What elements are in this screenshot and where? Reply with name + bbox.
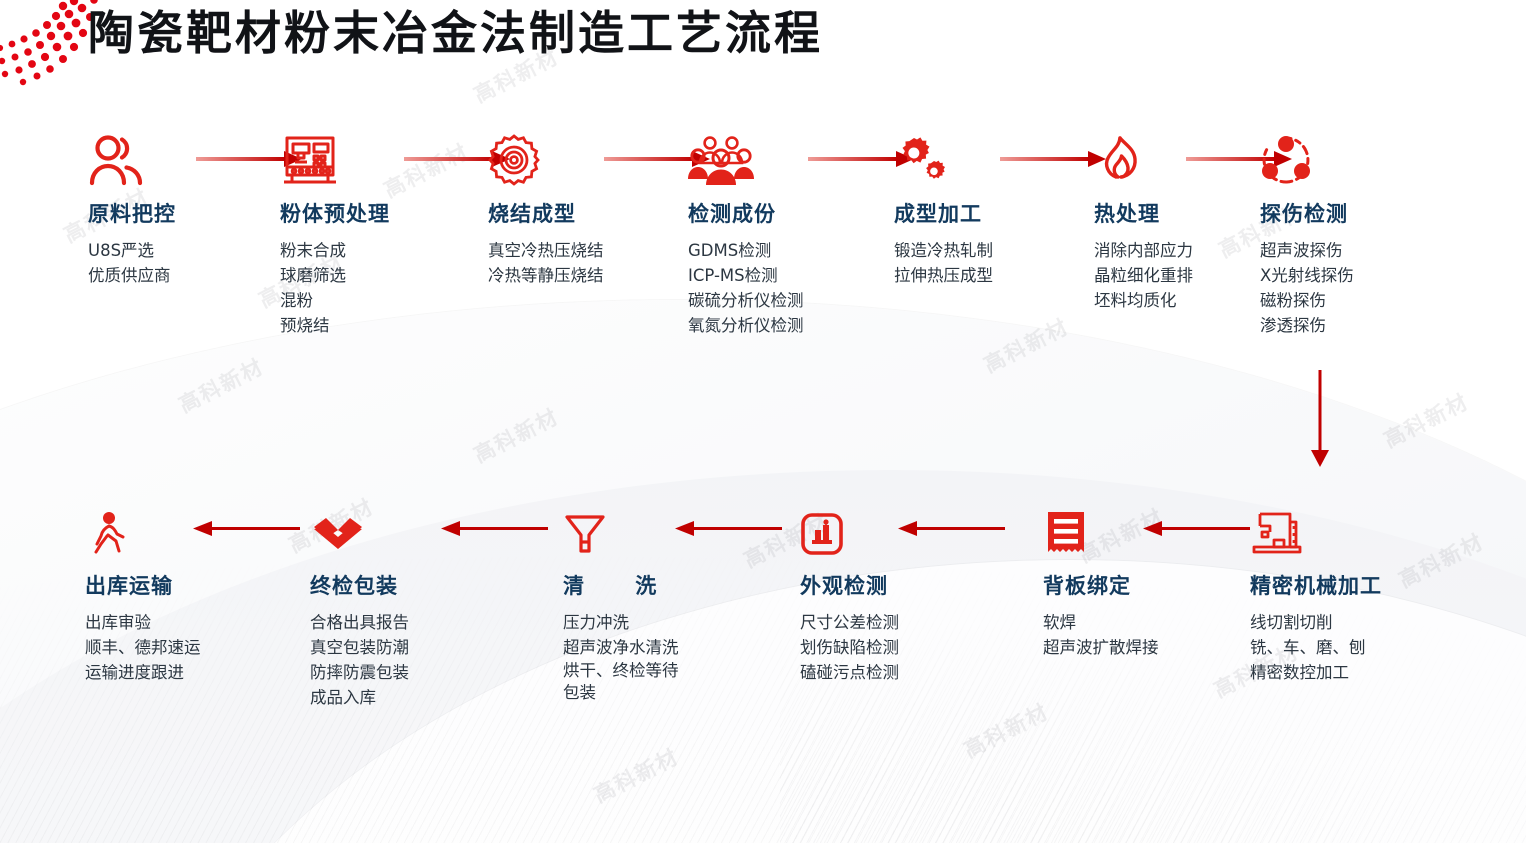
step-title: 烧结成型	[488, 198, 604, 228]
process-step-3[interactable]: 烧结成型 真空冷热压烧结 冷热等静压烧结	[488, 128, 604, 288]
step-item: 烘干、终检等待包装	[563, 660, 679, 704]
step-item: ICP-MS检测	[688, 263, 804, 288]
step-item: 磕碰污点检测	[800, 660, 899, 685]
process-step-2[interactable]: 粉体预处理 粉末合成 球磨筛选 混粉 预烧结	[280, 128, 390, 338]
step-item: 超声波探伤	[1260, 238, 1354, 263]
flow-arrow-left	[895, 518, 1005, 540]
step-title: 背板绑定	[1043, 570, 1159, 600]
three-dots-cycle-icon	[1260, 128, 1354, 186]
step-item: 拉伸热压成型	[894, 263, 993, 288]
step-item: 锻造冷热轧制	[894, 238, 993, 263]
step-items: 粉末合成 球磨筛选 混粉 预烧结	[280, 238, 390, 338]
step-item: 防摔防震包装	[310, 660, 409, 685]
cnc-machine-icon	[1250, 500, 1382, 558]
watermark: 高科新材	[588, 741, 684, 809]
step-items: 锻造冷热轧制 拉伸热压成型	[894, 238, 993, 288]
step-title: 粉体预处理	[280, 198, 390, 228]
step-item: 软焊	[1043, 610, 1159, 635]
step-item: 碳硫分析仪检测	[688, 288, 804, 313]
step-items: 线切割切削 铣、车、磨、刨 精密数控加工	[1250, 610, 1382, 685]
step-title: 清 洗	[563, 570, 679, 600]
process-step-6[interactable]: 热处理 消除内部应力 晶粒细化重排 坯料均质化	[1094, 128, 1193, 313]
gears-icon	[894, 128, 993, 186]
step-item: 线切割切削	[1250, 610, 1382, 635]
watermark: 高科新材	[978, 311, 1074, 379]
step-items: 压力冲洗 超声波净水清洗 烘干、终检等待包装	[563, 610, 679, 704]
process-step-10[interactable]: 外观检测 尺寸公差检测 划伤缺陷检测 磕碰污点检测	[800, 500, 899, 685]
step-item: 超声波净水清洗	[563, 635, 679, 660]
people-group-icon	[688, 128, 804, 186]
step-item: 磁粉探伤	[1260, 288, 1354, 313]
step-item: 合格出具报告	[310, 610, 409, 635]
process-step-11[interactable]: 清 洗 压力冲洗 超声波净水清洗 烘干、终检等待包装	[563, 500, 679, 704]
flow-arrow-left	[672, 518, 782, 540]
step-item: 优质供应商	[88, 263, 176, 288]
background-decoration: 高科新材 高科新材 高科新材 高科新材 高科新材 高科新材 高科新材 高科新材 …	[0, 0, 1526, 843]
watermark: 高科新材	[1393, 526, 1489, 594]
step-title: 终检包装	[310, 570, 409, 600]
step-item: 氧氮分析仪检测	[688, 313, 804, 338]
process-step-1[interactable]: 原料把控 U8S严选 优质供应商	[88, 128, 176, 288]
step-item: X光射线探伤	[1260, 263, 1354, 288]
step-items: 超声波探伤 X光射线探伤 磁粉探伤 渗透探伤	[1260, 238, 1354, 338]
step-title: 热处理	[1094, 198, 1193, 228]
watermark: 高科新材	[958, 696, 1054, 764]
step-items: 尺寸公差检测 划伤缺陷检测 磕碰污点检测	[800, 610, 899, 685]
step-item: 渗透探伤	[1260, 313, 1354, 338]
step-item: 出库审验	[85, 610, 201, 635]
process-step-4[interactable]: 检测成份 GDMS检测 ICP-MS检测 碳硫分析仪检测 氧氮分析仪检测	[688, 128, 804, 338]
step-title: 原料把控	[88, 198, 176, 228]
step-item: 真空冷热压烧结	[488, 238, 604, 263]
step-item: 尺寸公差检测	[800, 610, 899, 635]
step-items: 消除内部应力 晶粒细化重排 坯料均质化	[1094, 238, 1193, 313]
process-step-5[interactable]: 成型加工 锻造冷热轧制 拉伸热压成型	[894, 128, 993, 288]
step-item: 冷热等静压烧结	[488, 263, 604, 288]
step-item: 晶粒细化重排	[1094, 263, 1193, 288]
watermark: 高科新材	[468, 401, 564, 469]
step-item: 混粉	[280, 288, 390, 313]
gear-target-icon	[488, 128, 604, 186]
step-item: 消除内部应力	[1094, 238, 1193, 263]
step-title: 精密机械加工	[1250, 570, 1382, 600]
flow-arrow-right	[1000, 148, 1108, 170]
watermark: 高科新材	[1378, 386, 1474, 454]
flow-arrow-down	[1300, 370, 1340, 470]
funnel-icon	[563, 500, 679, 558]
flame-icon	[1094, 128, 1193, 186]
step-title: 探伤检测	[1260, 198, 1354, 228]
step-item: 顺丰、德邦速运	[85, 635, 201, 660]
step-title: 检测成份	[688, 198, 804, 228]
step-items: U8S严选 优质供应商	[88, 238, 176, 288]
process-step-13[interactable]: 出库运输 出库审验 顺丰、德邦速运 运输进度跟进	[85, 500, 201, 685]
open-box-icon	[310, 500, 409, 558]
process-step-8[interactable]: 精密机械加工 线切割切削 铣、车、磨、刨 精密数控加工	[1250, 500, 1382, 685]
step-item: 压力冲洗	[563, 610, 679, 635]
step-item: 运输进度跟进	[85, 660, 201, 685]
step-item: 球磨筛选	[280, 263, 390, 288]
watermark: 高科新材	[378, 136, 474, 204]
step-items: 出库审验 顺丰、德邦速运 运输进度跟进	[85, 610, 201, 685]
step-items: 软焊 超声波扩散焊接	[1043, 610, 1159, 660]
watermark: 高科新材	[173, 351, 269, 419]
step-item: 成品入库	[310, 685, 409, 710]
flow-arrow-left	[438, 518, 548, 540]
step-item: 铣、车、磨、刨	[1250, 635, 1382, 660]
step-item: 真空包装防潮	[310, 635, 409, 660]
step-title: 外观检测	[800, 570, 899, 600]
step-item: GDMS检测	[688, 238, 804, 263]
step-item: 精密数控加工	[1250, 660, 1382, 685]
inspection-icon	[800, 500, 899, 558]
page-title: 陶瓷靶材粉末冶金法制造工艺流程	[88, 2, 823, 64]
flow-arrow-left	[190, 518, 300, 540]
flow-arrow-left	[1140, 518, 1250, 540]
step-item: 预烧结	[280, 313, 390, 338]
step-items: GDMS检测 ICP-MS检测 碳硫分析仪检测 氧氮分析仪检测	[688, 238, 804, 338]
step-title: 出库运输	[85, 570, 201, 600]
step-items: 真空冷热压烧结 冷热等静压烧结	[488, 238, 604, 288]
step-item: 坯料均质化	[1094, 288, 1193, 313]
machine-icon	[280, 128, 390, 186]
two-people-icon	[88, 128, 176, 186]
walking-person-icon	[85, 500, 201, 558]
step-item: 超声波扩散焊接	[1043, 635, 1159, 660]
process-step-12[interactable]: 终检包装 合格出具报告 真空包装防潮 防摔防震包装 成品入库	[310, 500, 409, 710]
step-item: 划伤缺陷检测	[800, 635, 899, 660]
step-item: 粉末合成	[280, 238, 390, 263]
step-item: U8S严选	[88, 238, 176, 263]
step-items: 合格出具报告 真空包装防潮 防摔防震包装 成品入库	[310, 610, 409, 710]
process-step-7[interactable]: 探伤检测 超声波探伤 X光射线探伤 磁粉探伤 渗透探伤	[1260, 128, 1354, 338]
step-title: 成型加工	[894, 198, 993, 228]
